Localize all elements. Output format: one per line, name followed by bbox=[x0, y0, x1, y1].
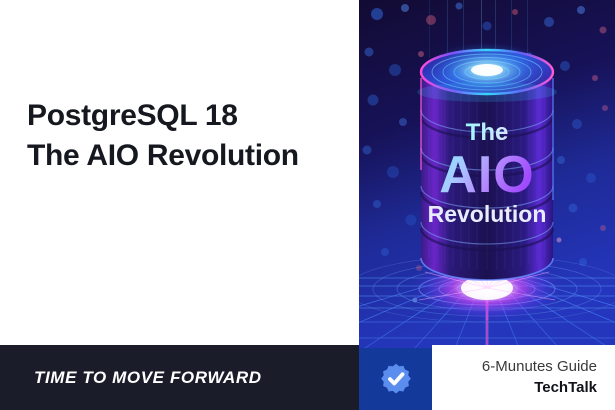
verified-check-icon bbox=[379, 362, 413, 396]
hero-text-the: The bbox=[466, 119, 509, 146]
bottom-banner-text: TIME TO MOVE FORWARD bbox=[34, 368, 262, 388]
page-title: PostgreSQL 18 The AIO Revolution bbox=[27, 96, 337, 176]
badge-panel bbox=[359, 348, 432, 410]
slide-canvas: PostgreSQL 18 The AIO Revolution bbox=[0, 0, 615, 410]
caption-block: 6-Munutes Guide TechTalk bbox=[432, 345, 615, 410]
guide-duration-label: 6-Munutes Guide bbox=[482, 357, 597, 377]
bottom-banner: TIME TO MOVE FORWARD bbox=[0, 345, 359, 410]
hero-text-revolution: Revolution bbox=[428, 201, 547, 227]
brand-name: TechTalk bbox=[534, 378, 597, 398]
hero-text-aio: AIO bbox=[439, 146, 534, 204]
title-area: PostgreSQL 18 The AIO Revolution bbox=[0, 0, 345, 345]
hero-image: The AIO Revolution bbox=[359, 0, 615, 348]
